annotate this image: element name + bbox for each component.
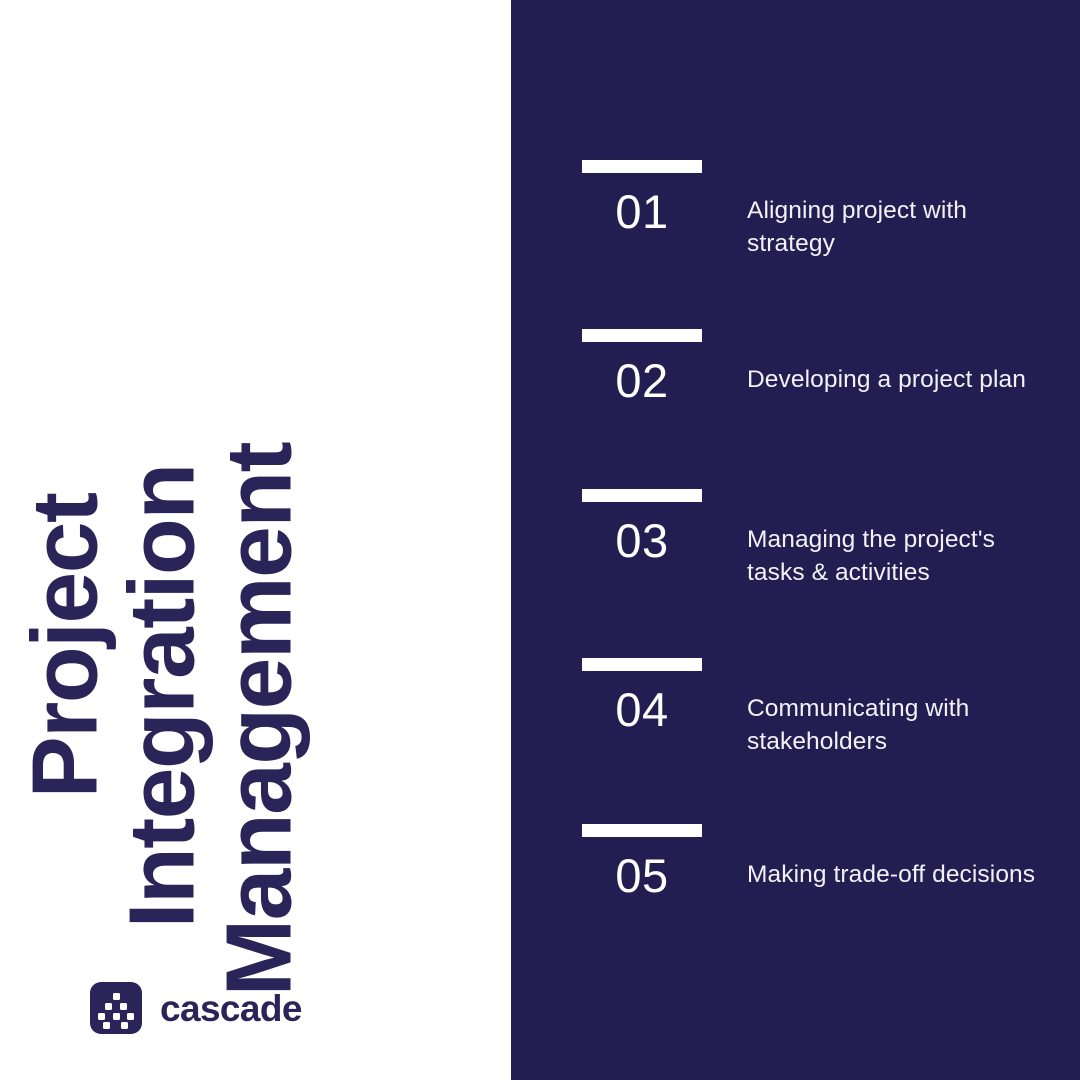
item-rule xyxy=(582,160,702,173)
logo-dot xyxy=(121,1022,128,1029)
infographic-poster: Project Integration Management cascade 0 xyxy=(0,0,1080,1080)
title-line-3: Management xyxy=(215,443,303,996)
list-item: 04 Communicating with stakeholders xyxy=(582,658,1072,788)
page-title: Project Integration Management xyxy=(0,0,511,940)
item-text: Communicating with stakeholders xyxy=(747,692,1047,758)
item-rule xyxy=(582,658,702,671)
steps-list: 01 Aligning project with strategy 02 Dev… xyxy=(511,0,1080,1080)
list-item: 05 Making trade-off decisions xyxy=(582,824,1072,954)
item-text: Aligning project with strategy xyxy=(747,194,1047,260)
brand-wordmark: cascade xyxy=(160,990,302,1027)
logo-dot xyxy=(98,1013,105,1020)
item-number: 04 xyxy=(582,686,702,733)
logo-dot xyxy=(120,1003,127,1010)
item-number: 05 xyxy=(582,852,702,899)
list-item: 02 Developing a project plan xyxy=(582,329,1072,459)
title-line-1: Project xyxy=(21,494,109,799)
logo-dot xyxy=(103,1022,110,1029)
brand-logo: cascade xyxy=(90,982,302,1034)
list-item: 03 Managing the project's tasks & activi… xyxy=(582,489,1072,619)
item-rule xyxy=(582,489,702,502)
steps-panel: 01 Aligning project with strategy 02 Dev… xyxy=(511,0,1080,1080)
item-text: Developing a project plan xyxy=(747,363,1047,396)
logo-dot xyxy=(113,993,120,1000)
item-number: 02 xyxy=(582,357,702,404)
item-number: 01 xyxy=(582,188,702,235)
item-text: Making trade-off decisions xyxy=(747,858,1047,891)
item-number: 03 xyxy=(582,517,702,564)
title-panel: Project Integration Management cascade xyxy=(0,0,511,1080)
logo-dot xyxy=(105,1003,112,1010)
item-rule xyxy=(582,329,702,342)
title-line-2: Integration xyxy=(118,464,206,928)
item-rule xyxy=(582,824,702,837)
cascade-dots-icon xyxy=(90,982,142,1034)
logo-dot xyxy=(113,1013,120,1020)
item-text: Managing the project's tasks & activitie… xyxy=(747,523,1047,589)
list-item: 01 Aligning project with strategy xyxy=(582,160,1072,290)
logo-dot xyxy=(127,1013,134,1020)
